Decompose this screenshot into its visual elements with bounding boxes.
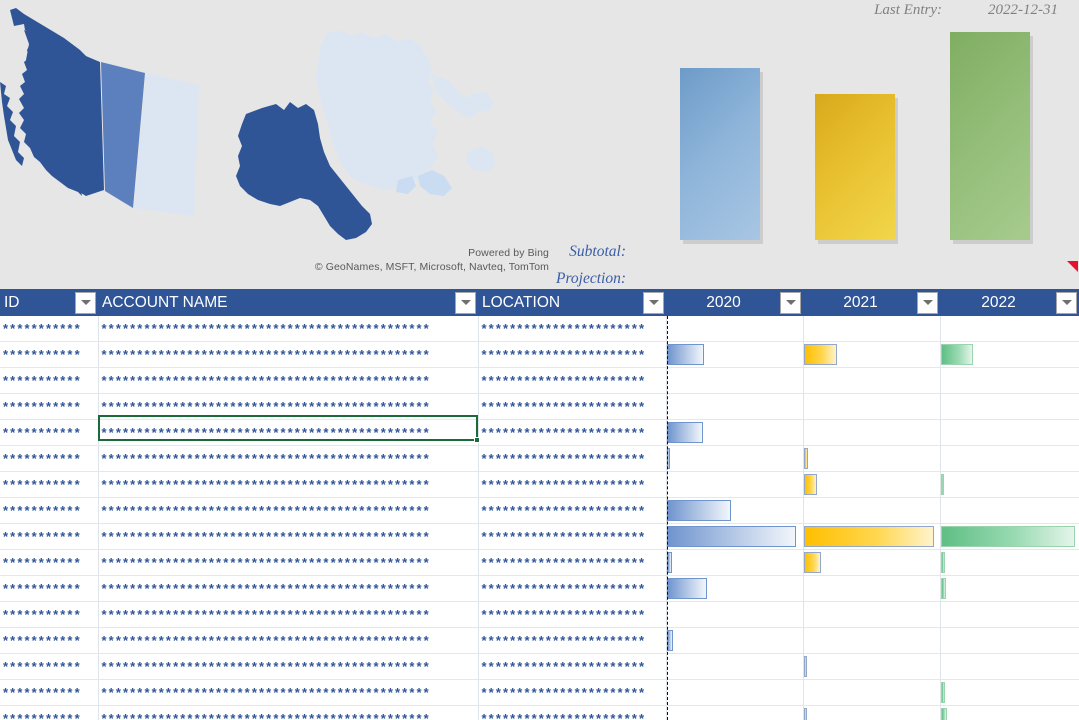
masked-value: ***********************	[479, 394, 666, 419]
column-header-account[interactable]: ACCOUNT NAME	[98, 289, 478, 316]
data-bar-y2022	[941, 474, 944, 495]
cell-y2022[interactable]	[940, 524, 1079, 550]
table-row[interactable]: ****************************************…	[0, 446, 1079, 472]
cell-y2022[interactable]	[940, 680, 1079, 706]
cell-y2020[interactable]	[666, 576, 803, 602]
masked-value: ***********************	[479, 342, 666, 367]
cell-y2022[interactable]	[940, 342, 1079, 368]
cell-id[interactable]: ***********	[0, 420, 98, 446]
data-bar-y2021	[804, 448, 808, 469]
cell-account[interactable]: ****************************************…	[98, 342, 478, 368]
masked-value: ***********	[0, 576, 98, 601]
masked-value: ****************************************…	[99, 524, 478, 549]
page-break-line	[667, 316, 668, 720]
cell-y2022[interactable]	[940, 628, 1079, 654]
cell-id[interactable]: ***********	[0, 576, 98, 602]
cell-y2022[interactable]	[940, 498, 1079, 524]
cell-id[interactable]: ***********	[0, 654, 98, 680]
column-header-y2022[interactable]: 2022	[940, 289, 1079, 316]
cell-y2021[interactable]	[803, 706, 940, 720]
cell-account[interactable]: ****************************************…	[98, 420, 478, 446]
table-row[interactable]: ****************************************…	[0, 706, 1079, 720]
masked-value: ****************************************…	[99, 576, 478, 601]
cell-id[interactable]: ***********	[0, 472, 98, 498]
chevron-down-icon	[1062, 300, 1072, 305]
masked-value: ***********************	[479, 706, 666, 720]
masked-value: ***********	[0, 680, 98, 705]
masked-value: ***********************	[479, 680, 666, 705]
masked-value: ***********	[0, 472, 98, 497]
masked-value: ***********	[0, 524, 98, 549]
column-header-label: 2022	[981, 294, 1015, 312]
cell-y2021[interactable]	[803, 368, 940, 394]
cell-id[interactable]: ***********	[0, 524, 98, 550]
masked-value: ***********************	[479, 446, 666, 471]
cell-location[interactable]: ***********************	[478, 654, 666, 680]
cell-y2020[interactable]	[666, 472, 803, 498]
table-row[interactable]: ****************************************…	[0, 524, 1079, 550]
table-row[interactable]: ****************************************…	[0, 368, 1079, 394]
table-row[interactable]: ****************************************…	[0, 394, 1079, 420]
masked-value: ****************************************…	[99, 628, 478, 653]
masked-value: ***********	[0, 654, 98, 679]
cell-id[interactable]: ***********	[0, 498, 98, 524]
data-bar-y2021	[804, 708, 807, 720]
cell-y2020[interactable]	[666, 524, 803, 550]
masked-value: ****************************************…	[99, 680, 478, 705]
filter-dropdown-id[interactable]	[75, 292, 96, 314]
masked-value: ****************************************…	[99, 420, 478, 445]
masked-value: ***********	[0, 706, 98, 720]
sheet-table: IDACCOUNT NAMELOCATION202020212022 *****…	[0, 289, 1079, 720]
data-bar-y2021	[804, 552, 822, 573]
cell-location[interactable]: ***********************	[478, 316, 666, 342]
masked-value: ***********	[0, 602, 98, 627]
filter-dropdown-y2021[interactable]	[917, 292, 938, 314]
masked-value: ****************************************…	[99, 602, 478, 627]
masked-value: ***********	[0, 368, 98, 393]
masked-value: ***********	[0, 628, 98, 653]
cell-location[interactable]: ***********************	[478, 446, 666, 472]
masked-value: ***********************	[479, 654, 666, 679]
masked-value: ***********************	[479, 524, 666, 549]
cell-y2021[interactable]	[803, 498, 940, 524]
cell-id[interactable]: ***********	[0, 706, 98, 720]
cell-y2022[interactable]	[940, 316, 1079, 342]
filter-dropdown-location[interactable]	[643, 292, 664, 314]
map-region-bc-panhandle[interactable]	[0, 82, 24, 166]
masked-value: ****************************************…	[99, 316, 478, 341]
masked-value: ****************************************…	[99, 368, 478, 393]
cell-id[interactable]: ***********	[0, 394, 98, 420]
table-row[interactable]: ****************************************…	[0, 342, 1079, 368]
data-bar-y2022	[941, 526, 1075, 547]
cell-y2021[interactable]	[803, 524, 940, 550]
data-bar-y2020	[667, 526, 797, 547]
table-row[interactable]: ****************************************…	[0, 654, 1079, 680]
cell-location[interactable]: ***********************	[478, 680, 666, 706]
cell-id[interactable]: ***********	[0, 446, 98, 472]
header-row: IDACCOUNT NAMELOCATION202020212022	[0, 289, 1079, 316]
cell-y2022[interactable]	[940, 368, 1079, 394]
masked-value: ***********	[0, 446, 98, 471]
cell-location[interactable]: ***********************	[478, 550, 666, 576]
masked-value: ***********************	[479, 472, 666, 497]
masked-value: ***********	[0, 316, 98, 341]
table-row[interactable]: ****************************************…	[0, 628, 1079, 654]
column-header-location[interactable]: LOCATION	[478, 289, 666, 316]
chevron-down-icon	[923, 300, 933, 305]
kpi-bar-chart[interactable]	[660, 0, 1079, 240]
cell-location[interactable]: ***********************	[478, 498, 666, 524]
table-row[interactable]: ****************************************…	[0, 550, 1079, 576]
kpi-bar-2021[interactable]	[815, 94, 895, 240]
kpi-bar-2020[interactable]	[680, 68, 760, 240]
filter-dropdown-account[interactable]	[455, 292, 476, 314]
data-bar-y2022	[941, 682, 945, 703]
masked-value: ****************************************…	[99, 472, 478, 497]
column-header-label: LOCATION	[482, 294, 560, 312]
masked-value: ****************************************…	[99, 342, 478, 367]
data-grid[interactable]: IDACCOUNT NAMELOCATION202020212022 *****…	[0, 289, 1079, 720]
cell-y2021[interactable]	[803, 420, 940, 446]
table-row[interactable]: ****************************************…	[0, 680, 1079, 706]
masked-value: ****************************************…	[99, 498, 478, 523]
cell-account[interactable]: ****************************************…	[98, 316, 478, 342]
cell-y2021[interactable]	[803, 654, 940, 680]
cell-account[interactable]: ****************************************…	[98, 524, 478, 550]
kpi-bar-2022-face	[950, 32, 1030, 240]
cell-id[interactable]: ***********	[0, 628, 98, 654]
spreadsheet-dashboard: Last Entry: 2022-12-31	[0, 0, 1079, 720]
masked-value: ***********************	[479, 550, 666, 575]
cell-account[interactable]: ****************************************…	[98, 446, 478, 472]
data-bar-y2020	[667, 500, 732, 521]
data-bar-y2021	[804, 344, 838, 365]
cell-y2021[interactable]	[803, 550, 940, 576]
cell-y2020[interactable]	[666, 498, 803, 524]
cell-comment-indicator-icon[interactable]	[1067, 261, 1079, 273]
map-region-saskatchewan[interactable]	[134, 73, 199, 216]
column-header-id[interactable]: ID	[0, 289, 98, 316]
cell-y2020[interactable]	[666, 420, 803, 446]
cell-y2021[interactable]	[803, 342, 940, 368]
cell-id[interactable]: ***********	[0, 550, 98, 576]
cell-id[interactable]: ***********	[0, 342, 98, 368]
map-region-quebec[interactable]	[316, 30, 438, 190]
data-bar-y2022	[941, 552, 945, 573]
table-row[interactable]: ****************************************…	[0, 472, 1079, 498]
data-bar-y2020	[667, 578, 708, 599]
comment-triangle-icon	[1067, 261, 1078, 272]
cell-location[interactable]: ***********************	[478, 524, 666, 550]
cell-y2020[interactable]	[666, 446, 803, 472]
cell-y2020[interactable]	[666, 654, 803, 680]
masked-value: ***********************	[479, 576, 666, 601]
chevron-down-icon	[786, 300, 796, 305]
cell-y2020[interactable]	[666, 550, 803, 576]
cell-location[interactable]: ***********************	[478, 628, 666, 654]
cell-account[interactable]: ****************************************…	[98, 472, 478, 498]
chevron-down-icon	[461, 300, 471, 305]
cell-id[interactable]: ***********	[0, 602, 98, 628]
table-row[interactable]: ****************************************…	[0, 498, 1079, 524]
filter-dropdown-y2020[interactable]	[780, 292, 801, 314]
column-header-y2021[interactable]: 2021	[803, 289, 940, 316]
cell-account[interactable]: ****************************************…	[98, 706, 478, 720]
masked-value: ***********************	[479, 420, 666, 445]
data-bar-y2022	[941, 578, 946, 599]
table-row[interactable]: ****************************************…	[0, 316, 1079, 342]
table-body: ****************************************…	[0, 316, 1079, 720]
column-header-label: ID	[4, 294, 20, 312]
masked-value: ***********************	[479, 628, 666, 653]
table-row[interactable]: ****************************************…	[0, 576, 1079, 602]
cell-y2020[interactable]	[666, 628, 803, 654]
chevron-down-icon	[649, 300, 659, 305]
cell-y2022[interactable]	[940, 420, 1079, 446]
cell-y2020[interactable]	[666, 602, 803, 628]
masked-value: ***********	[0, 394, 98, 419]
masked-value: ***********	[0, 420, 98, 445]
masked-value: ****************************************…	[99, 654, 478, 679]
cell-y2022[interactable]	[940, 654, 1079, 680]
table-header: IDACCOUNT NAMELOCATION202020212022	[0, 289, 1079, 316]
cell-account[interactable]: ****************************************…	[98, 368, 478, 394]
cell-id[interactable]: ***********	[0, 680, 98, 706]
data-bar-y2021	[804, 526, 935, 547]
masked-value: ***********************	[479, 316, 666, 341]
kpi-bar-2022[interactable]	[950, 32, 1030, 240]
kpi-bar-2020-face	[680, 68, 760, 240]
masked-value: ****************************************…	[99, 394, 478, 419]
masked-value: ***********************	[479, 498, 666, 523]
filter-dropdown-y2022[interactable]	[1056, 292, 1077, 314]
masked-value: ***********	[0, 498, 98, 523]
column-header-label: 2021	[843, 294, 877, 312]
cell-account[interactable]: ****************************************…	[98, 628, 478, 654]
cell-y2020[interactable]	[666, 706, 803, 720]
cell-y2022[interactable]	[940, 706, 1079, 720]
cell-y2022[interactable]	[940, 576, 1079, 602]
cell-location[interactable]: ***********************	[478, 576, 666, 602]
cell-y2020[interactable]	[666, 368, 803, 394]
cell-y2020[interactable]	[666, 680, 803, 706]
cell-account[interactable]: ****************************************…	[98, 550, 478, 576]
column-header-label: 2020	[706, 294, 740, 312]
subtotal-label: Subtotal:	[458, 243, 626, 261]
cell-location[interactable]: ***********************	[478, 368, 666, 394]
cell-y2021[interactable]	[803, 602, 940, 628]
cell-account[interactable]: ****************************************…	[98, 680, 478, 706]
data-bar-y2020	[667, 422, 703, 443]
data-bar-y2022	[941, 708, 948, 720]
cell-id[interactable]: ***********	[0, 316, 98, 342]
kpi-bar-2021-face	[815, 94, 895, 240]
cell-y2020[interactable]	[666, 316, 803, 342]
cell-y2021[interactable]	[803, 472, 940, 498]
masked-value: ****************************************…	[99, 706, 478, 720]
masked-value: ***********************	[479, 368, 666, 393]
map-feature-great-lakes	[418, 170, 452, 196]
cell-y2021[interactable]	[803, 628, 940, 654]
column-header-label: ACCOUNT NAME	[102, 294, 227, 312]
data-bar-y2020	[667, 344, 705, 365]
table-row[interactable]: ****************************************…	[0, 602, 1079, 628]
cell-y2021[interactable]	[803, 576, 940, 602]
cell-location[interactable]: ***********************	[478, 342, 666, 368]
cell-account[interactable]: ****************************************…	[98, 394, 478, 420]
cell-y2022[interactable]	[940, 446, 1079, 472]
map-svg	[0, 0, 560, 250]
column-header-y2020[interactable]: 2020	[666, 289, 803, 316]
cell-y2022[interactable]	[940, 394, 1079, 420]
cell-account[interactable]: ****************************************…	[98, 498, 478, 524]
cell-location[interactable]: ***********************	[478, 472, 666, 498]
cell-location[interactable]: ***********************	[478, 706, 666, 720]
dashboard-header-region: Last Entry: 2022-12-31	[0, 0, 1079, 289]
cell-y2022[interactable]	[940, 472, 1079, 498]
cell-y2020[interactable]	[666, 342, 803, 368]
cell-y2021[interactable]	[803, 316, 940, 342]
masked-value: ***********	[0, 550, 98, 575]
map-feature-maritimes	[466, 146, 496, 172]
masked-value: ***********************	[479, 602, 666, 627]
cell-y2021[interactable]	[803, 446, 940, 472]
cell-location[interactable]: ***********************	[478, 602, 666, 628]
cell-location[interactable]: ***********************	[478, 394, 666, 420]
cell-y2021[interactable]	[803, 680, 940, 706]
data-bar-y2022	[941, 344, 974, 365]
cell-y2021[interactable]	[803, 394, 940, 420]
cell-location[interactable]: ***********************	[478, 420, 666, 446]
masked-value: ****************************************…	[99, 446, 478, 471]
projection-label: Projection:	[458, 270, 626, 288]
cell-y2020[interactable]	[666, 394, 803, 420]
table-row[interactable]: ****************************************…	[0, 420, 1079, 446]
map-region-bc-mainland[interactable]	[24, 30, 104, 196]
cell-account[interactable]: ****************************************…	[98, 602, 478, 628]
data-bar-y2021	[804, 474, 818, 495]
cell-account[interactable]: ****************************************…	[98, 654, 478, 680]
cell-y2022[interactable]	[940, 550, 1079, 576]
cell-id[interactable]: ***********	[0, 368, 98, 394]
cell-account[interactable]: ****************************************…	[98, 576, 478, 602]
chevron-down-icon	[81, 300, 91, 305]
cell-y2022[interactable]	[940, 602, 1079, 628]
masked-value: ***********	[0, 342, 98, 367]
masked-value: ****************************************…	[99, 550, 478, 575]
data-bar-y2021	[804, 656, 807, 677]
